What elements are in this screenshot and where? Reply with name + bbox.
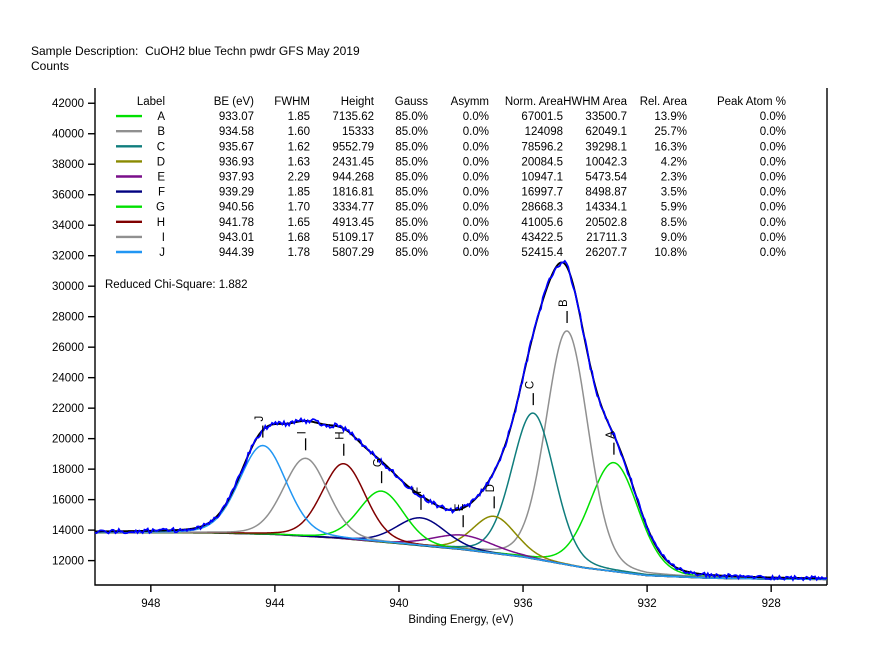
table-cell: 1.70 [288,202,310,214]
table-cell: 8498.87 [585,187,627,199]
y-tick-label: 20000 [52,434,84,446]
y-tick-label: 36000 [52,190,84,202]
table-cell: 85.0% [395,172,428,184]
table-cell: 25.7% [654,126,687,138]
table-cell: 1.62 [288,141,310,153]
table-header-cell: Asymm [451,96,489,108]
table-cell: 2.3% [661,172,687,184]
table-header-cell: FWHM [274,96,310,108]
table-cell: 0.0% [760,187,786,199]
table-cell: 85.0% [395,111,428,123]
y-tick-label: 16000 [52,495,84,507]
table-cell: 1.65 [288,217,310,229]
table-cell: 0.0% [760,217,786,229]
table-cell: 0.0% [463,247,489,259]
table-cell: 13.9% [654,111,687,123]
x-axis-title: Binding Energy, (eV) [408,614,513,626]
table-cell: 1.63 [288,156,310,168]
table-cell: 26207.7 [585,247,627,259]
table-cell: 940.56 [219,202,254,214]
x-tick-label: 948 [141,598,160,610]
table-cell: 0.0% [760,172,786,184]
table-cell: 941.78 [219,217,254,229]
envelope-curve [95,262,827,578]
y-tick-label: 42000 [52,98,84,110]
table-cell: 0.0% [463,202,489,214]
table-header-cell: Norm. Area [505,96,564,108]
table-cell: 15333 [342,126,374,138]
table-cell: 4913.45 [332,217,374,229]
y-tick-label: 34000 [52,220,84,232]
table-cell: 934.58 [219,126,254,138]
table-cell: 5109.17 [332,232,374,244]
table-cell: 43422.5 [521,232,563,244]
table-cell: 0.0% [760,232,786,244]
table-cell: 936.93 [219,156,254,168]
table-cell: 0.0% [463,126,489,138]
x-tick-label: 940 [389,598,408,610]
table-cell: 0.0% [463,232,489,244]
table-header-cell: Label [137,96,165,108]
axes-group [88,88,827,592]
table-cell: 85.0% [395,202,428,214]
table-cell: 0.0% [760,141,786,153]
table-cell: 2431.45 [332,156,374,168]
y-tick-label: 14000 [52,525,84,537]
table-header-cell: Rel. Area [640,96,688,108]
table-cell: 0.0% [463,172,489,184]
table-cell: 20084.5 [521,156,563,168]
table-cell: 33500.7 [585,111,627,123]
table-cell: C [157,141,165,153]
table-cell: 0.0% [760,111,786,123]
table-cell: 1.85 [288,187,310,199]
table-cell: 85.0% [395,141,428,153]
table-cell: 39298.1 [585,141,627,153]
table-cell: 944.39 [219,247,254,259]
table-cell: 9552.79 [332,141,374,153]
table-header-cell: Peak Atom % [717,96,786,108]
table-cell: 935.67 [219,141,254,153]
table-cell: 62049.1 [585,126,627,138]
table-cell: 1816.81 [332,187,374,199]
table-header-cell: Height [341,96,375,108]
background-curve [95,532,827,579]
x-tick-label: 932 [638,598,657,610]
table-cell: 933.07 [219,111,254,123]
table-cell: 28668.3 [521,202,563,214]
table-cell: F [158,187,165,199]
table-cell: 3.5% [661,187,687,199]
y-tick-label: 18000 [52,464,84,476]
y-tick-label: 28000 [52,312,84,324]
table-cell: 1.78 [288,247,310,259]
x-tick-label: 928 [762,598,781,610]
peak-label-b: B [558,299,570,307]
table-cell: G [156,202,165,214]
table-cell: 0.0% [463,111,489,123]
table-cell: 0.0% [760,156,786,168]
table-cell: 944.268 [332,172,374,184]
peak-label-a: A [605,431,617,439]
table-cell: 52415.4 [521,247,563,259]
peak-label-d: D [485,484,497,492]
y-tick-label: 30000 [52,281,84,293]
table-cell: 5473.54 [585,172,627,184]
table-cell: B [157,126,165,138]
table-cell: H [157,217,165,229]
x-tick-label: 936 [513,598,532,610]
table-cell: 9.0% [661,232,687,244]
table-cell: 0.0% [463,156,489,168]
y-tick-label: 38000 [52,159,84,171]
y-tick-label: 26000 [52,342,84,354]
table-cell: 0.0% [463,141,489,153]
table-cell: I [162,232,165,244]
peak-label-e: E [454,503,466,511]
table-cell: 0.0% [463,187,489,199]
table-header-cell: BE (eV) [214,96,254,108]
y-tick-label: 12000 [52,556,84,568]
peak-curve-h [95,464,827,580]
table-header-cell: Gauss [395,96,428,108]
table-cell: 21711.3 [586,232,627,244]
peak-label-f: F [412,487,424,494]
table-cell: 2.29 [288,172,310,184]
table-cell: 8.5% [661,217,687,229]
table-cell: 3334.77 [332,202,374,214]
table-header-cell: HWHM Area [563,96,628,108]
table-cell: 16.3% [654,141,687,153]
table-cell: 0.0% [760,126,786,138]
table-cell: 943.01 [219,232,254,244]
fit-parameter-table: LabelBE (eV)FWHMHeightGaussAsymmNorm. Ar… [116,96,786,259]
table-cell: 5.9% [661,202,687,214]
table-cell: 0.0% [463,217,489,229]
y-tick-labels: 1200014000160001800020000220002400026000… [52,98,84,567]
x-tick-labels: 948944940936932928 [141,598,781,610]
table-cell: 5807.29 [332,247,374,259]
table-cell: 1.68 [288,232,310,244]
table-cell: 7135.62 [332,111,374,123]
table-cell: 20502.8 [585,217,627,229]
table-cell: 16997.7 [521,187,563,199]
table-cell: 85.0% [395,156,428,168]
x-tick-label: 944 [265,598,285,610]
table-cell: 85.0% [395,126,428,138]
table-cell: 14334.1 [585,202,627,214]
table-cell: 85.0% [395,187,428,199]
table-cell: 67001.5 [521,111,563,123]
table-cell: 0.0% [760,247,786,259]
table-cell: 85.0% [395,232,428,244]
peak-label-j: J [254,416,266,422]
peak-curve-i [95,458,827,579]
peak-curve-c [95,413,827,579]
peak-curve-j [95,446,827,580]
peak-labels: ABCDEFGHIJ [254,299,617,527]
peak-label-h: H [335,431,347,439]
table-cell: 10.8% [654,247,687,259]
spectrum-plot: 1200014000160001800020000220002400026000… [0,0,876,658]
table-cell: J [159,247,165,259]
table-cell: 124098 [525,126,563,138]
y-tick-label: 40000 [52,129,84,141]
table-cell: E [157,172,165,184]
table-cell: 937.93 [219,172,254,184]
table-cell: 4.2% [661,156,687,168]
table-cell: 10042.3 [585,156,627,168]
table-cell: 1.85 [288,111,310,123]
table-cell: A [157,111,165,123]
peak-curve-a [95,463,827,579]
peak-label-c: C [524,381,536,389]
table-cell: 85.0% [395,217,428,229]
spectrum-curves [95,261,827,580]
reduced-chi-square: Reduced Chi-Square: 1.882 [105,279,248,291]
table-cell: 1.60 [288,126,310,138]
chart-canvas: 1200014000160001800020000220002400026000… [0,0,876,658]
table-cell: 10947.1 [521,172,563,184]
peak-label-i: I [297,431,309,434]
y-tick-label: 24000 [52,373,84,385]
y-tick-label: 22000 [52,403,84,415]
table-cell: 41005.6 [521,217,563,229]
table-cell: 78596.2 [521,141,563,153]
peak-label-g: G [373,458,385,467]
table-cell: 85.0% [395,247,428,259]
table-cell: 939.29 [219,187,254,199]
table-cell: D [157,156,165,168]
table-cell: 0.0% [760,202,786,214]
y-tick-label: 32000 [52,251,84,263]
peak-curve-e [95,532,827,579]
